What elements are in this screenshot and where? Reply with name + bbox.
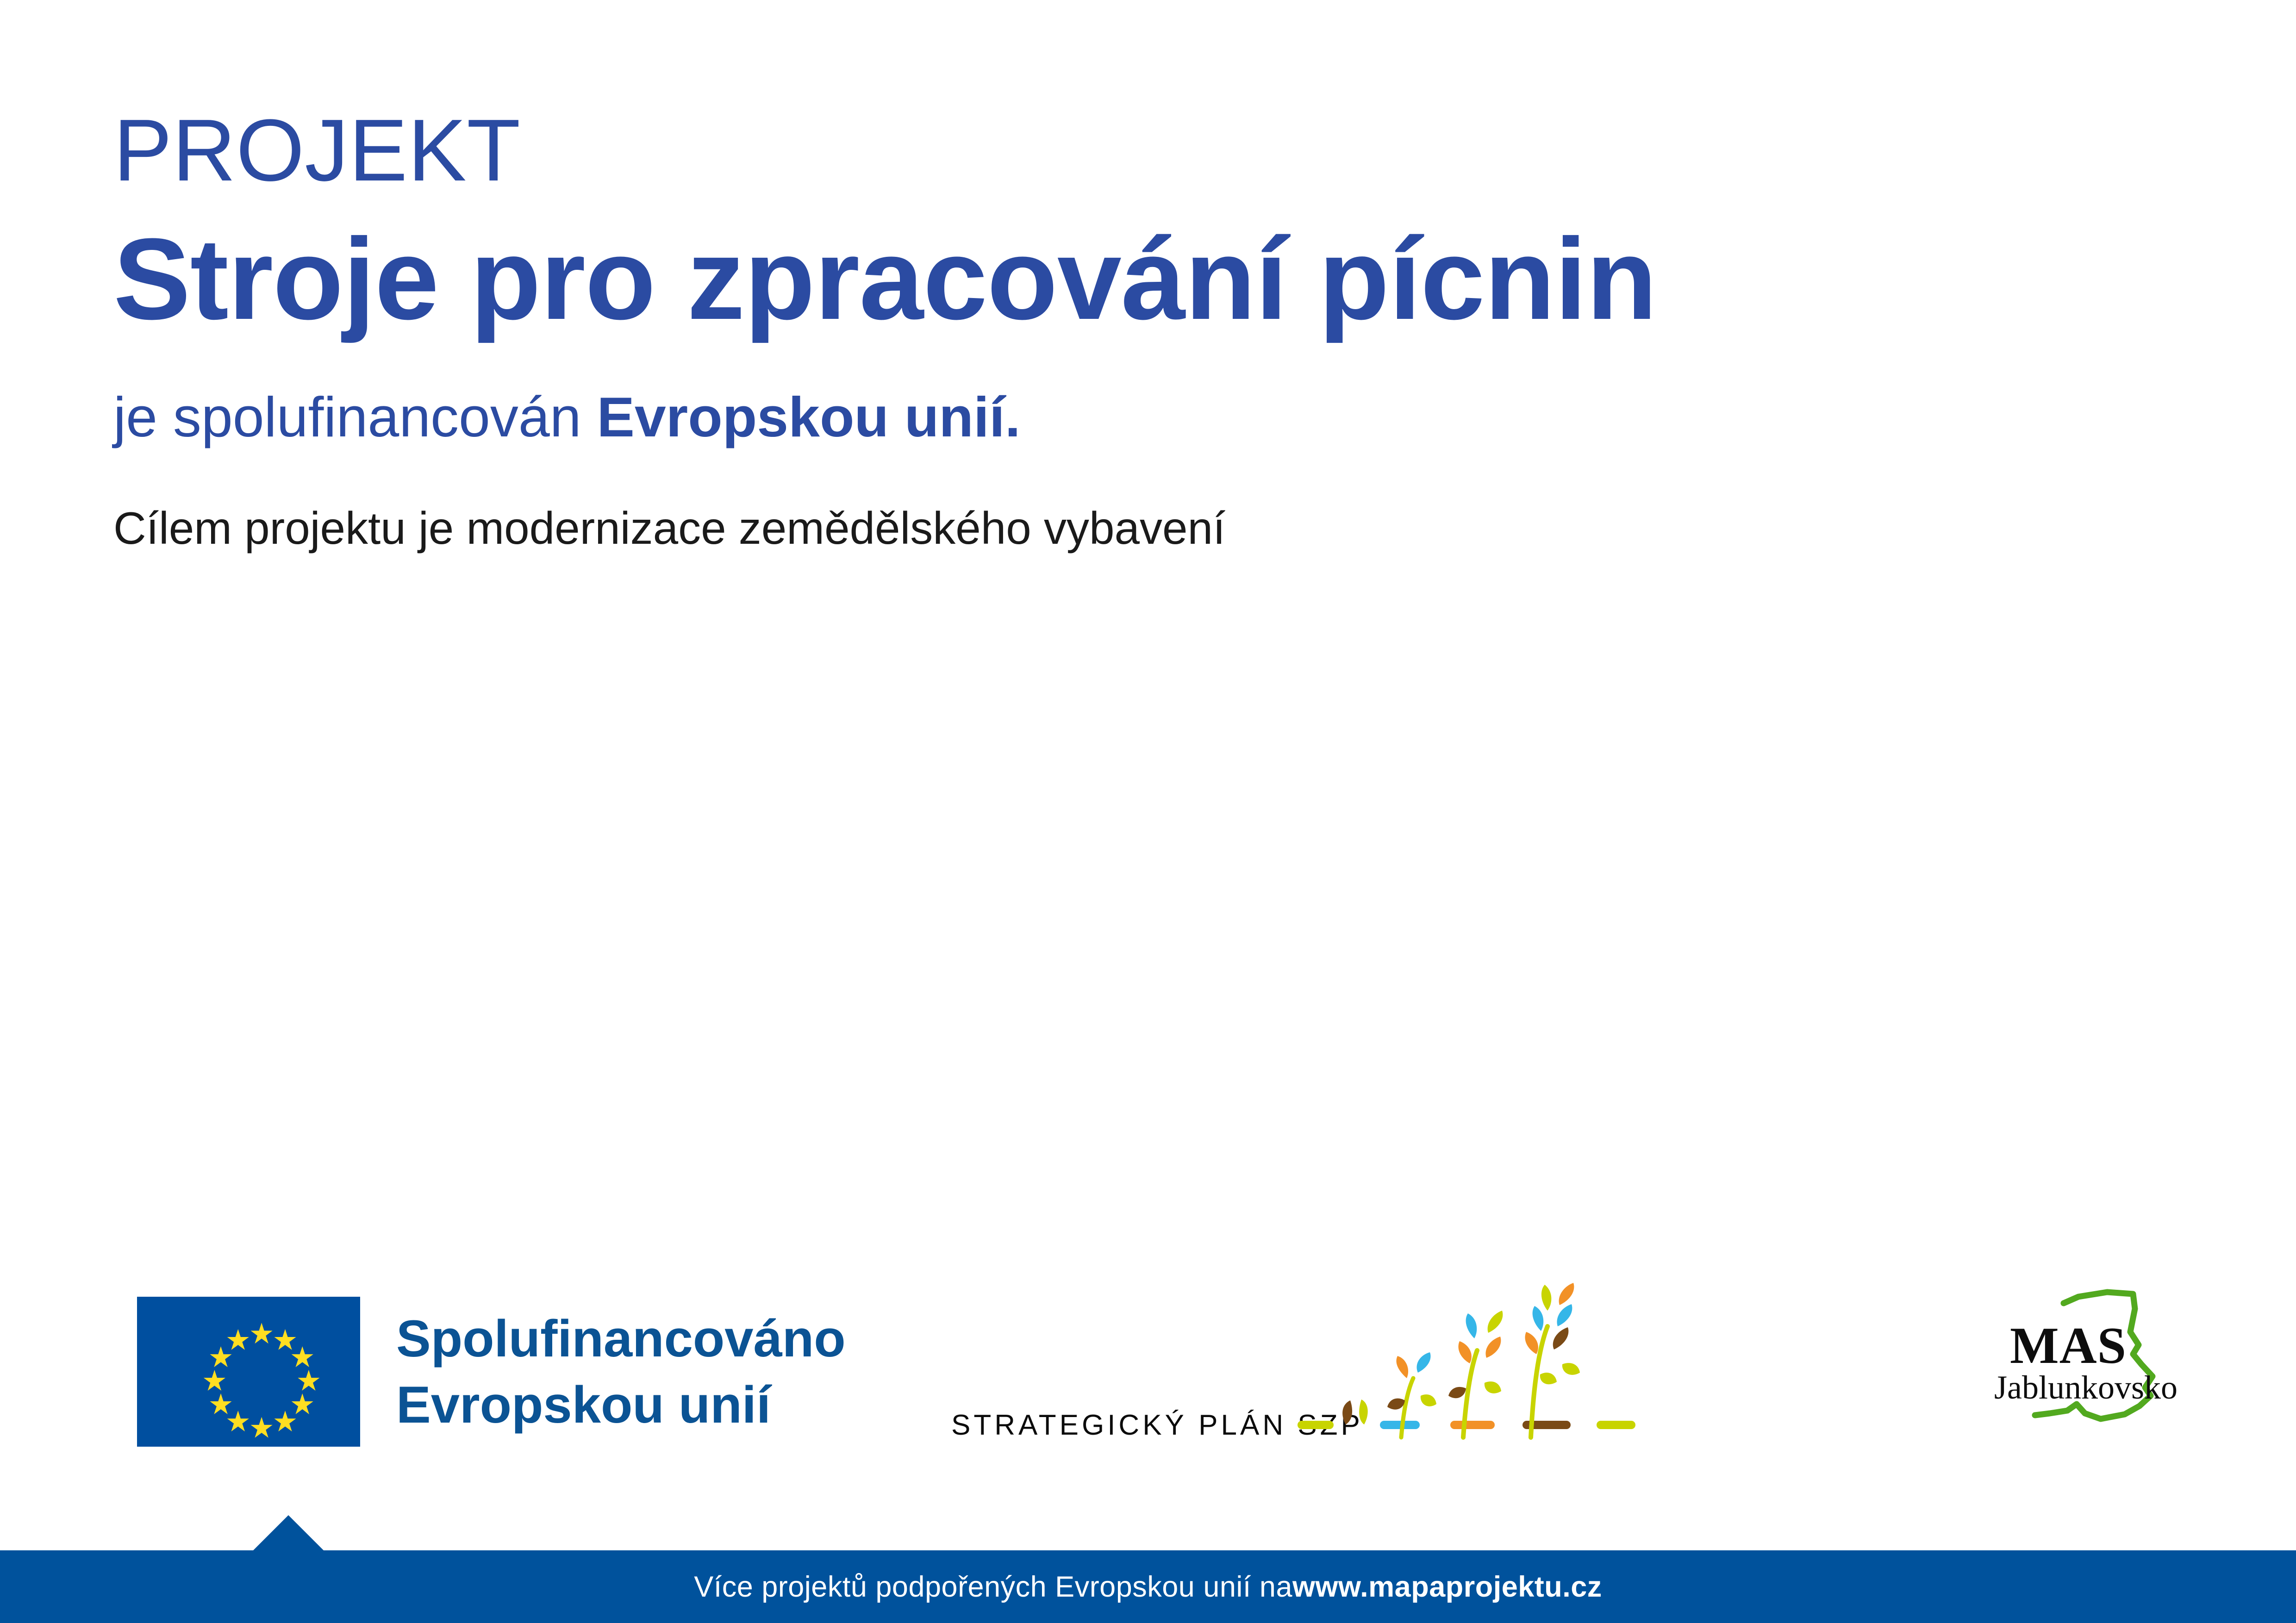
eu-cofinancing-logo: Spolufinancováno Evropskou unií	[137, 1297, 846, 1447]
eu-flag-icon	[137, 1297, 360, 1447]
eu-text-line-2: Evropskou unií	[396, 1372, 846, 1438]
footer-bar: Více projektů podpořených Evropskou unií…	[0, 1550, 2296, 1623]
mas-jablunkovsko-logo: MAS Jablunkovsko	[1986, 1280, 2180, 1456]
poster-canvas: PROJEKT Stroje pro zpracování pícnin je …	[0, 0, 2296, 1623]
eyebrow-label: PROJEKT	[113, 106, 2058, 194]
page-title: Stroje pro zpracování pícnin	[113, 218, 2058, 340]
footer-url-link[interactable]: www.mapaprojektu.cz	[1292, 1570, 1602, 1604]
logo-row: Spolufinancováno Evropskou unií STRATEGI…	[0, 1268, 2296, 1472]
szp-plants-icon	[1294, 1276, 1664, 1461]
cofinancing-statement: je spolufinancován Evropskou unií.	[113, 385, 2058, 449]
project-text-block: PROJEKT Stroje pro zpracování pícnin je …	[113, 106, 2058, 555]
project-goal-text: Cílem projektu je modernizace zemědělské…	[113, 501, 2058, 556]
cofinancing-strong: Evropskou unií.	[597, 386, 1021, 448]
footer-notch-triangle	[253, 1515, 324, 1550]
mas-subtitle: Jablunkovsko	[1994, 1371, 2177, 1404]
cofinancing-prefix: je spolufinancován	[113, 386, 597, 448]
footer-prefix: Více projektů podpořených Evropskou unií…	[694, 1570, 1292, 1604]
szp-logo: STRATEGICKÝ PLÁN SZP	[949, 1276, 1671, 1461]
eu-cofinancing-text: Spolufinancováno Evropskou unií	[396, 1306, 846, 1438]
mas-title: MAS	[2010, 1320, 2127, 1372]
eu-text-line-1: Spolufinancováno	[396, 1306, 846, 1372]
footer-text: Více projektů podpořených Evropskou unií…	[0, 1550, 2296, 1623]
